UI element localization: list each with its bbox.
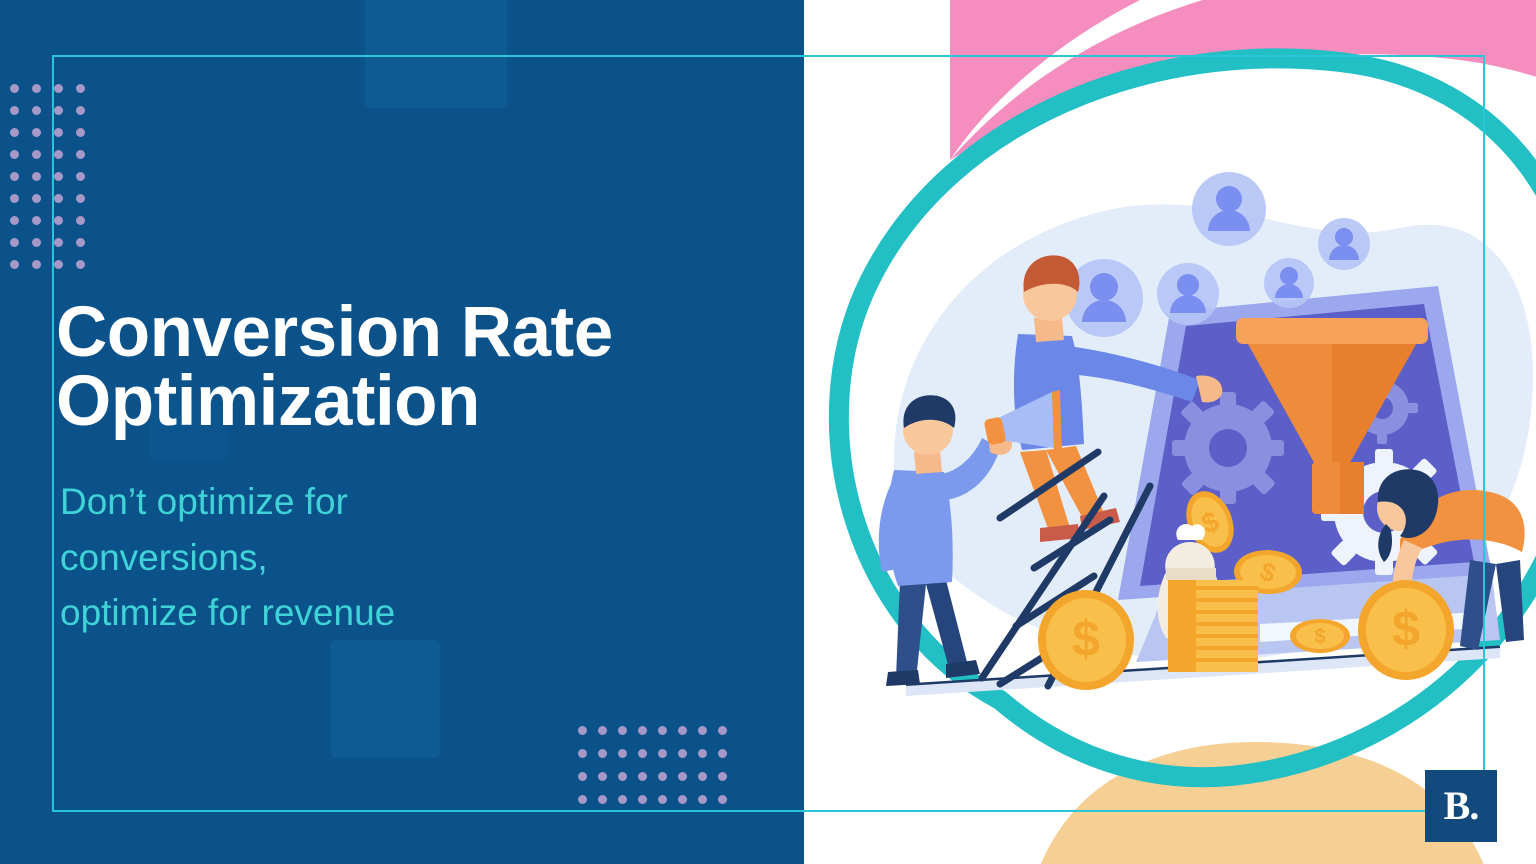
panel-accent-rect-bottom bbox=[330, 640, 440, 758]
grid-top-left-dot bbox=[54, 84, 63, 93]
funnel-neck-shade bbox=[1340, 462, 1364, 514]
grid-bottom-dot bbox=[598, 749, 607, 758]
falling-coin-3: $ bbox=[1290, 619, 1350, 653]
grid-bottom-dot bbox=[578, 749, 587, 758]
grid-bottom-dot bbox=[698, 772, 707, 781]
grid-bottom-dot bbox=[698, 749, 707, 758]
grid-top-left-dot bbox=[54, 216, 63, 225]
grid-top-left-dot bbox=[76, 216, 85, 225]
grid-top-left-dot bbox=[76, 150, 85, 159]
grid-top-left-dot bbox=[10, 106, 19, 115]
grid-bottom-dot bbox=[578, 772, 587, 781]
grid-bottom-dot bbox=[658, 772, 667, 781]
logo-mark: B. bbox=[1444, 786, 1479, 826]
grid-top-left-dot bbox=[32, 216, 41, 225]
svg-text:$: $ bbox=[1314, 626, 1325, 648]
grid-bottom-dot bbox=[698, 795, 707, 804]
grid-top-left-dot bbox=[76, 84, 85, 93]
dot-grid-top-left bbox=[0, 84, 98, 282]
grid-bottom-dot bbox=[598, 726, 607, 735]
svg-text:$: $ bbox=[1072, 611, 1100, 667]
grid-bottom-dot bbox=[718, 795, 727, 804]
grid-bottom-dot bbox=[638, 726, 647, 735]
grid-bottom-dot bbox=[658, 795, 667, 804]
grid-top-left-dot bbox=[10, 150, 19, 159]
grid-top-left-dot bbox=[10, 128, 19, 137]
grid-top-left-dot bbox=[10, 216, 19, 225]
grid-bottom-dot bbox=[638, 772, 647, 781]
grid-top-left-dot bbox=[54, 260, 63, 269]
grid-top-left-dot bbox=[32, 84, 41, 93]
illustration-area: $ $ $ $ bbox=[804, 0, 1536, 864]
grid-bottom-dot bbox=[598, 795, 607, 804]
grid-bottom-dot bbox=[578, 795, 587, 804]
grid-top-left-dot bbox=[32, 172, 41, 181]
grid-bottom-dot bbox=[678, 795, 687, 804]
gear-icon-large-left bbox=[1172, 392, 1284, 504]
slide-canvas: $ $ $ $ bbox=[0, 0, 1536, 864]
grid-bottom-dot bbox=[678, 749, 687, 758]
grid-top-left-dot bbox=[76, 106, 85, 115]
grid-bottom-dot bbox=[678, 772, 687, 781]
grid-bottom-dot bbox=[718, 726, 727, 735]
coin-stack bbox=[1168, 580, 1258, 672]
avatar-bubble-4 bbox=[1318, 218, 1370, 270]
big-coin-left: $ bbox=[1038, 590, 1134, 690]
grid-bottom-dot bbox=[618, 772, 627, 781]
grid-bottom-dot bbox=[658, 726, 667, 735]
grid-bottom-dot bbox=[718, 772, 727, 781]
grid-bottom-dot bbox=[658, 749, 667, 758]
grid-top-left-dot bbox=[32, 194, 41, 203]
grid-bottom-dot bbox=[578, 726, 587, 735]
grid-bottom-dot bbox=[618, 795, 627, 804]
grid-top-left-dot bbox=[54, 172, 63, 181]
big-coin-right: $ bbox=[1358, 580, 1454, 680]
subtitle: Don’t optimize for conversions, optimize… bbox=[60, 474, 600, 641]
grid-top-left-dot bbox=[10, 84, 19, 93]
grid-top-left-dot bbox=[54, 106, 63, 115]
grid-bottom-dot bbox=[678, 726, 687, 735]
grid-top-left-dot bbox=[10, 172, 19, 181]
grid-top-left-dot bbox=[10, 238, 19, 247]
grid-top-left-dot bbox=[32, 106, 41, 115]
headline-line-2: Optimization bbox=[56, 367, 756, 437]
avatar-bubble-1 bbox=[1192, 172, 1266, 246]
dot-grid-bottom bbox=[578, 726, 738, 818]
grid-top-left-dot bbox=[54, 238, 63, 247]
grid-top-left-dot bbox=[76, 260, 85, 269]
brand-logo: B. bbox=[1425, 770, 1497, 842]
grid-bottom-dot bbox=[598, 772, 607, 781]
grid-top-left-dot bbox=[54, 128, 63, 137]
subtitle-line-2: conversions, bbox=[60, 530, 600, 586]
page-title: Conversion Rate Optimization bbox=[56, 298, 756, 437]
grid-top-left-dot bbox=[10, 260, 19, 269]
funnel-rim bbox=[1236, 318, 1428, 344]
grid-bottom-dot bbox=[618, 749, 627, 758]
grid-top-left-dot bbox=[32, 128, 41, 137]
grid-top-left-dot bbox=[32, 260, 41, 269]
subtitle-line-1: Don’t optimize for bbox=[60, 474, 600, 530]
avatar-bubble-3 bbox=[1157, 263, 1219, 325]
grid-top-left-dot bbox=[10, 194, 19, 203]
grid-bottom-dot bbox=[698, 726, 707, 735]
grid-top-left-dot bbox=[54, 194, 63, 203]
grid-top-left-dot bbox=[32, 150, 41, 159]
subtitle-line-3: optimize for revenue bbox=[60, 585, 600, 641]
megaphone-man-shoe-back bbox=[886, 670, 920, 686]
grid-bottom-dot bbox=[718, 749, 727, 758]
avatar-bubble-2 bbox=[1264, 258, 1314, 308]
grid-bottom-dot bbox=[638, 749, 647, 758]
grid-top-left-dot bbox=[76, 194, 85, 203]
grid-top-left-dot bbox=[76, 238, 85, 247]
grid-bottom-dot bbox=[638, 795, 647, 804]
headline-line-1: Conversion Rate bbox=[56, 293, 613, 372]
grid-top-left-dot bbox=[54, 150, 63, 159]
grid-top-left-dot bbox=[76, 128, 85, 137]
grid-top-left-dot bbox=[76, 172, 85, 181]
grid-bottom-dot bbox=[618, 726, 627, 735]
grid-top-left-dot bbox=[32, 238, 41, 247]
svg-text:$: $ bbox=[1392, 601, 1420, 657]
panel-accent-rect-top bbox=[365, 0, 507, 108]
